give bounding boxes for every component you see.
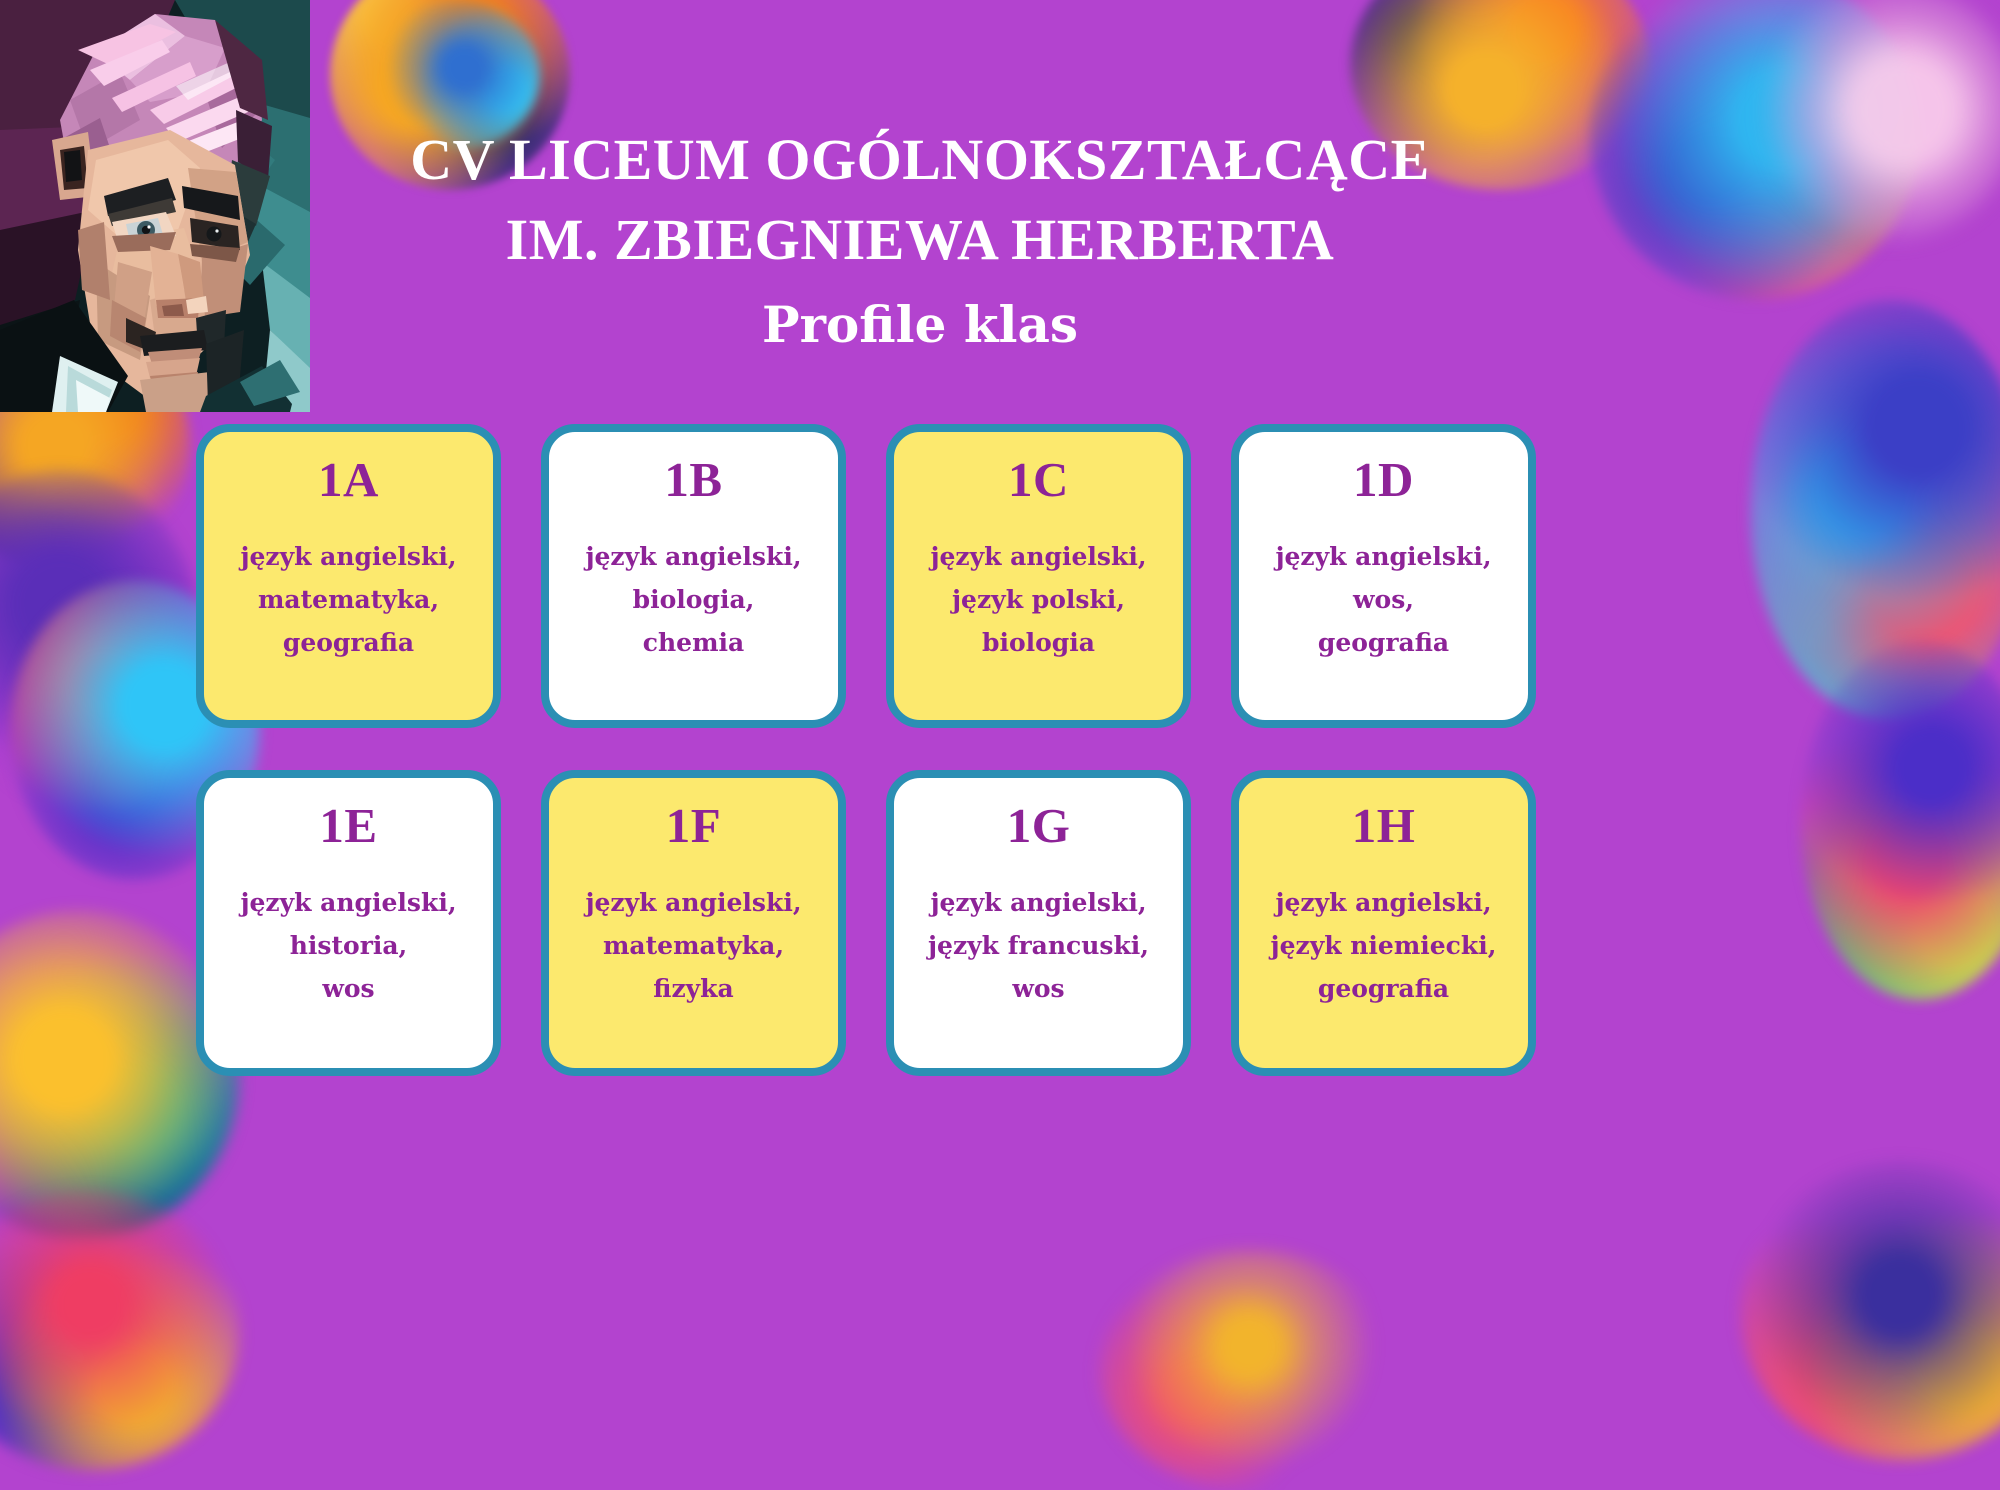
class-card-subject-line: język niemiecki, <box>1255 924 1512 967</box>
class-card-subject-line: matematyka, <box>565 924 822 967</box>
class-card-subjects: język angielski,biologia,chemia <box>565 535 822 664</box>
class-card-label: 1D <box>1255 454 1512 505</box>
class-card-label: 1F <box>565 800 822 851</box>
class-card-subject-line: język angielski, <box>220 535 477 578</box>
class-card-1b[interactable]: 1Bjęzyk angielski,biologia,chemia <box>541 424 846 728</box>
powder-splatter-right-middle-icon <box>1750 300 2000 720</box>
class-card-subject-line: język polski, <box>910 578 1167 621</box>
class-card-subject-line: biologia, <box>565 578 822 621</box>
class-card-subject-line: biologia <box>910 621 1167 664</box>
class-card-label: 1H <box>1255 800 1512 851</box>
powder-splatter-right-bottom-icon <box>1740 1160 2000 1460</box>
class-card-label: 1C <box>910 454 1167 505</box>
class-card-subject-line: geografia <box>1255 621 1512 664</box>
pink-cloud-top-right-icon <box>1760 0 2000 240</box>
class-card-subject-line: matematyka, <box>220 578 477 621</box>
class-card-subject-line: język francuski, <box>910 924 1167 967</box>
class-card-1d[interactable]: 1Djęzyk angielski,wos,geografia <box>1231 424 1536 728</box>
class-card-subjects: język angielski,język niemiecki,geografi… <box>1255 881 1512 1010</box>
powder-splatter-purple-left-icon <box>0 470 200 800</box>
class-card-subjects: język angielski,matematyka,fizyka <box>565 881 822 1010</box>
powder-splatter-right-lower-icon <box>1800 640 2000 1000</box>
class-card-1c[interactable]: 1Cjęzyk angielski,język polski,biologia <box>886 424 1191 728</box>
class-card-1e[interactable]: 1Ejęzyk angielski,historia,wos <box>196 770 501 1076</box>
class-card-1a[interactable]: 1Ajęzyk angielski,matematyka,geografia <box>196 424 501 728</box>
class-card-subjects: język angielski,język francuski,wos <box>910 881 1167 1010</box>
class-card-subject-line: chemia <box>565 621 822 664</box>
page-header: CV LICEUM OGÓLNOKSZTAŁCĄCE IM. ZBIEGNIEW… <box>330 120 1510 364</box>
class-card-subject-line: geografia <box>220 621 477 664</box>
class-card-1f[interactable]: 1Fjęzyk angielski,matematyka,fizyka <box>541 770 846 1076</box>
class-card-label: 1E <box>220 800 477 851</box>
school-title-line-2: IM. ZBIEGNIEWA HERBERTA <box>330 200 1510 280</box>
class-card-1g[interactable]: 1Gjęzyk angielski,język francuski,wos <box>886 770 1191 1076</box>
class-card-subject-line: język angielski, <box>1255 881 1512 924</box>
class-card-label: 1A <box>220 454 477 505</box>
class-card-1h[interactable]: 1Hjęzyk angielski,język niemiecki,geogra… <box>1231 770 1536 1076</box>
powder-splatter-cyan-top-right-icon <box>1590 0 1920 300</box>
class-card-subject-line: historia, <box>220 924 477 967</box>
class-card-subject-line: wos <box>220 967 477 1010</box>
portrait-illustration <box>0 0 310 412</box>
class-card-subjects: język angielski,wos,geografia <box>1255 535 1512 664</box>
class-card-subjects: język angielski,historia,wos <box>220 881 477 1010</box>
class-card-subject-line: język angielski, <box>220 881 477 924</box>
class-card-subjects: język angielski,język polski,biologia <box>910 535 1167 664</box>
school-title-line-1: CV LICEUM OGÓLNOKSZTAŁCĄCE <box>330 120 1510 200</box>
class-card-subject-line: język angielski, <box>1255 535 1512 578</box>
class-card-subject-line: fizyka <box>565 967 822 1010</box>
class-card-subject-line: geografia <box>1255 967 1512 1010</box>
class-card-subject-line: wos <box>910 967 1167 1010</box>
class-card-label: 1B <box>565 454 822 505</box>
class-card-subject-line: język angielski, <box>910 881 1167 924</box>
class-card-subjects: język angielski,matematyka,geografia <box>220 535 477 664</box>
class-card-subject-line: wos, <box>1255 578 1512 621</box>
class-card-label: 1G <box>910 800 1167 851</box>
class-profiles-grid: 1Ajęzyk angielski,matematyka,geografia1B… <box>196 424 1536 1364</box>
page-subtitle: Profile klas <box>330 286 1510 364</box>
class-card-subject-line: język angielski, <box>910 535 1167 578</box>
class-card-subject-line: język angielski, <box>565 535 822 578</box>
portrait-lowpoly-svg <box>0 0 310 412</box>
class-card-subject-line: język angielski, <box>565 881 822 924</box>
